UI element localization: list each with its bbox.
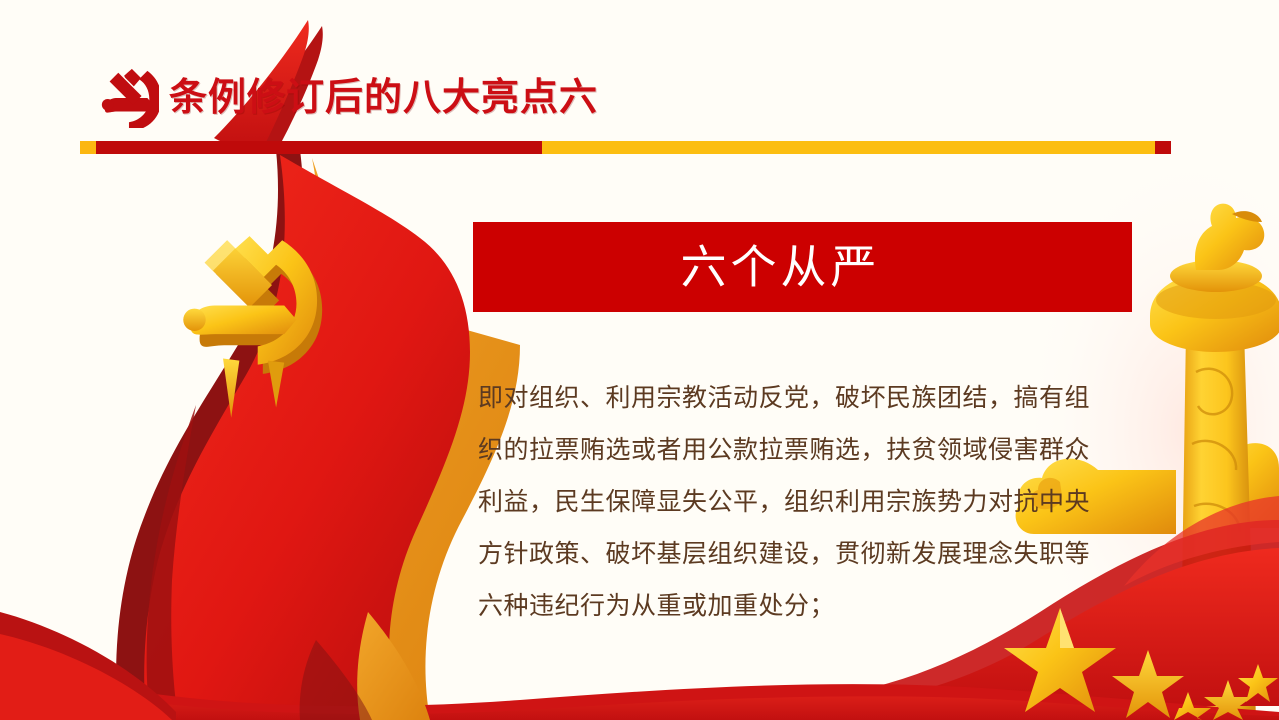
- body-line: 方针政策、破坏基层组织建设，贯彻新发展理念失职等: [478, 528, 1150, 580]
- body-line: 即对组织、利用宗教活动反党，破坏民族团结，搞有组: [478, 372, 1150, 424]
- page-title: 条例修订后的八大亮点六: [169, 69, 598, 125]
- divider-left-square: [80, 141, 96, 154]
- body-line: 六种违纪行为从重或加重处分；: [478, 580, 1150, 632]
- header-divider: [0, 140, 1279, 156]
- body-line: 利益，民生保障显失公平，组织利用宗族势力对抗中央: [478, 476, 1150, 528]
- banner-title: 六个从严: [681, 241, 881, 293]
- divider-right-square: [1155, 141, 1171, 154]
- slide-canvas: 条例修订后的八大亮点六 六个从严 即对组织、利用宗教活动反党，破坏民族团结，搞有…: [0, 0, 1279, 720]
- slide-header: 条例修订后的八大亮点六: [0, 54, 1279, 144]
- divider-red-bar: [96, 141, 542, 154]
- section-banner: 六个从严: [473, 222, 1132, 312]
- body-line: 织的拉票贿选或者用公款拉票贿选，扶贫领域侵害群众: [478, 424, 1150, 476]
- hammer-and-sickle-icon: [97, 66, 159, 128]
- body-paragraph: 即对组织、利用宗教活动反党，破坏民族团结，搞有组 织的拉票贿选或者用公款拉票贿选…: [478, 372, 1150, 632]
- divider-yellow-bar: [542, 141, 1155, 154]
